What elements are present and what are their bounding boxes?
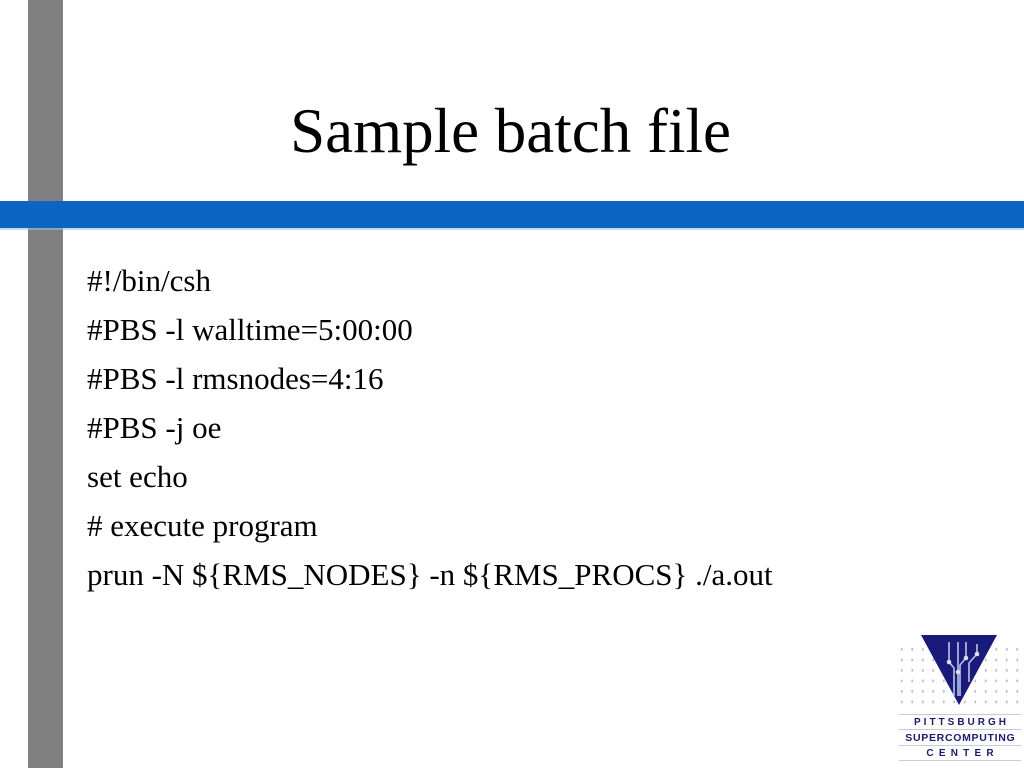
- psc-logo-mark: [897, 628, 1021, 714]
- batch-script-block: #!/bin/csh #PBS -l walltime=5:00:00 #PBS…: [87, 256, 967, 599]
- script-line: #PBS -j oe: [87, 403, 967, 452]
- script-line: # execute program: [87, 501, 967, 550]
- script-line: prun -N ${RMS_NODES} -n ${RMS_PROCS} ./a…: [87, 550, 967, 599]
- psc-logo-line-center: CENTER: [899, 745, 1021, 761]
- psc-logo-line-supercomputing: SUPERCOMPUTING: [899, 729, 1021, 745]
- script-line: set echo: [87, 452, 967, 501]
- script-line: #PBS -l walltime=5:00:00: [87, 305, 967, 354]
- left-gray-accent-bar: [28, 0, 63, 768]
- script-line: #PBS -l rmsnodes=4:16: [87, 354, 967, 403]
- blue-divider-stripe-shadow: [0, 228, 1024, 230]
- psc-logo-line-pittsburgh: PITTSBURGH: [899, 714, 1021, 729]
- script-line: #!/bin/csh: [87, 256, 967, 305]
- psc-logo: PITTSBURGH SUPERCOMPUTING CENTER: [897, 628, 1021, 760]
- psc-triangle-icon: [919, 632, 999, 708]
- slide-title: Sample batch file: [63, 98, 958, 164]
- psc-logo-text: PITTSBURGH SUPERCOMPUTING CENTER: [899, 714, 1021, 761]
- blue-divider-stripe: [0, 201, 1024, 228]
- slide-canvas: Sample batch file #!/bin/csh #PBS -l wal…: [0, 0, 1024, 768]
